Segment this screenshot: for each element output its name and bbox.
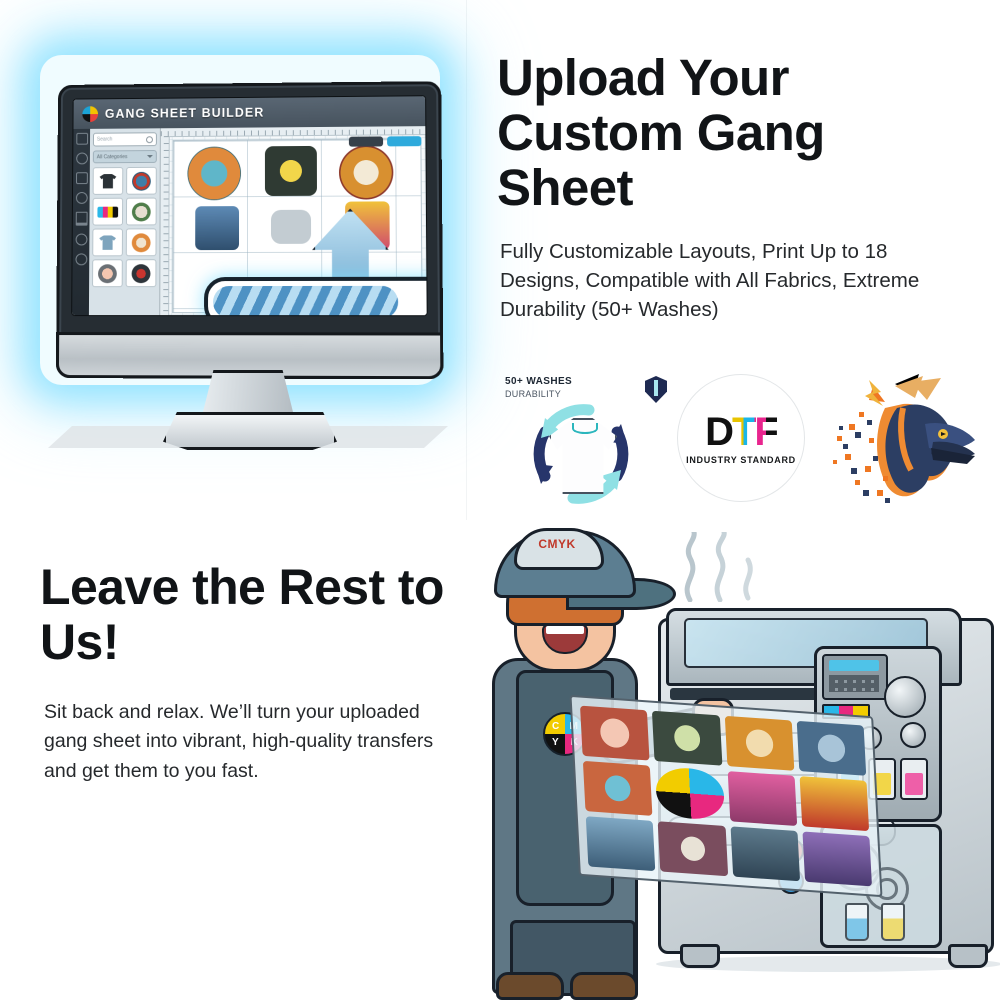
sheet-design: [658, 821, 728, 876]
steam-svg: [672, 532, 762, 602]
text-icon[interactable]: [75, 192, 87, 204]
keypad-icon[interactable]: [829, 675, 879, 692]
dtf-logo-d: D: [705, 410, 732, 454]
cap-text: CMYK: [530, 537, 584, 551]
durability-badge: 50+ WASHES DURABILITY: [497, 376, 667, 506]
frame-icon[interactable]: [75, 212, 87, 226]
search-magnifier-icon: [146, 136, 153, 143]
dtf-logo: DTF: [705, 412, 777, 452]
cmyk-strip-icon: [97, 206, 118, 217]
thumbnail-item[interactable]: [126, 198, 157, 226]
sheet-design: [799, 776, 869, 831]
sheet-design: [802, 831, 872, 886]
monitor-stand-base: [163, 412, 337, 450]
poster-root: GANG SHEET BUILDER: [0, 0, 1000, 1000]
thumbnail-item[interactable]: [126, 228, 157, 256]
printer-foot: [948, 944, 988, 968]
category-dropdown[interactable]: All Categories: [93, 150, 157, 163]
tshirt-refresh-icon: [521, 402, 641, 506]
printer-main-dial[interactable]: [884, 676, 926, 718]
dtf-caption: INDUSTRY STANDARD: [686, 455, 796, 465]
bottom-subtext: Sit back and relax. We’ll turn your uplo…: [44, 698, 444, 786]
sheet-design: [586, 816, 656, 871]
fluid-bottle-icon: [881, 903, 905, 941]
sheet-design: [583, 761, 653, 816]
tshirt-icon: [100, 174, 117, 189]
sheet-design: [730, 826, 800, 881]
washes-subtitle: DURABILITY: [505, 389, 561, 399]
app-side-panel: Search All Categories: [89, 128, 161, 315]
sheet-design: [652, 711, 722, 766]
thumbnail-item[interactable]: [92, 198, 123, 226]
monitor-body: GANG SHEET BUILDER: [56, 81, 444, 379]
badge-icon: [132, 233, 151, 252]
top-heading: Upload Your Custom Gang Sheet: [497, 50, 937, 215]
apron-letter-c: C: [552, 721, 559, 732]
app-tool-rail[interactable]: [72, 129, 90, 315]
apron-letter-y: Y: [552, 737, 559, 748]
cmyk-logo-icon: [82, 106, 98, 122]
top-subtext: Fully Customizable Layouts, Print Up to …: [500, 237, 937, 324]
sheet-design: [580, 706, 650, 761]
badge-icon: [132, 264, 151, 283]
bottom-text-block: Leave the Rest to Us! Sit back and relax…: [40, 560, 500, 786]
display-screen: [829, 660, 879, 671]
app-action-buttons: [349, 136, 422, 147]
design-thumbnail-grid: [92, 167, 157, 287]
app-canvas[interactable]: [160, 126, 426, 315]
app-body: Search All Categories: [72, 126, 427, 315]
sheet-design: [796, 721, 866, 776]
top-text-block: Upload Your Custom Gang Sheet Fully Cust…: [497, 50, 937, 325]
worker-shoe: [570, 972, 638, 1000]
monitor-screen: GANG SHEET BUILDER: [71, 95, 428, 316]
thumbnail-item[interactable]: [92, 259, 123, 287]
upload-progress-bar: [204, 277, 427, 316]
ruler-vertical: [160, 136, 170, 315]
search-placeholder: Search: [97, 137, 113, 143]
worker-shoe: [496, 972, 564, 1000]
shield-icon: [645, 376, 667, 403]
badge-icon: [132, 171, 151, 190]
menu-icon[interactable]: [76, 133, 88, 145]
app-topbar: GANG SHEET BUILDER: [73, 96, 425, 129]
thumbnail-item[interactable]: [126, 259, 157, 287]
tshirt-icon: [99, 235, 116, 250]
dtf-industry-standard-badge: DTF INDUSTRY STANDARD: [677, 374, 805, 502]
canvas-design[interactable]: [339, 145, 394, 199]
image-icon[interactable]: [76, 172, 88, 184]
badge-icon: [98, 264, 117, 283]
thumbnail-item[interactable]: [93, 167, 124, 195]
search-input[interactable]: Search: [93, 132, 157, 146]
dragon-svg: [825, 368, 985, 508]
printer-gauge: [900, 722, 926, 748]
thumbnail-item[interactable]: [126, 167, 157, 195]
bottom-section: Leave the Rest to Us! Sit back and relax…: [0, 520, 1000, 1000]
printer-display: [822, 654, 888, 700]
fluid-bottle-icon: [845, 903, 869, 941]
start-project-button[interactable]: [387, 136, 421, 146]
category-dropdown-value: All Categories: [97, 154, 128, 160]
upload-progress-fill: [213, 286, 398, 315]
canvas-design[interactable]: [187, 146, 241, 200]
printer-foot: [680, 944, 720, 968]
app-title: GANG SHEET BUILDER: [105, 106, 265, 121]
thumbnail-item[interactable]: [92, 228, 123, 256]
preview-upload-button[interactable]: [349, 136, 383, 146]
printed-gang-sheet: [569, 695, 882, 897]
cartridge-fill: [905, 773, 923, 795]
sheet-design-cmyk-tshirt: [655, 766, 725, 821]
steam-icon: [672, 532, 762, 602]
sheet-design: [724, 716, 794, 771]
dragon-head-icon: [825, 368, 985, 508]
worker-printer-illustration: C M Y K CMYK: [470, 520, 1000, 1000]
washes-title: 50+ WASHES: [505, 376, 572, 387]
badge-icon: [132, 202, 151, 221]
gang-sheet-designs: [580, 706, 872, 887]
canvas-design[interactable]: [271, 210, 311, 244]
chevron-down-icon: [147, 155, 153, 158]
upload-icon[interactable]: [75, 234, 87, 246]
bottom-heading: Leave the Rest to Us!: [40, 560, 500, 670]
canvas-design[interactable]: [265, 146, 317, 196]
badge-row: 50+ WASHES DURABILITY: [497, 368, 997, 513]
top-section: GANG SHEET BUILDER: [0, 0, 1000, 520]
sheet-design: [727, 771, 797, 826]
ink-cartridge-magenta[interactable]: [900, 758, 928, 800]
canvas-design[interactable]: [195, 206, 239, 250]
monitor-illustration: GANG SHEET BUILDER: [30, 40, 450, 460]
dtf-logo-tf: TF: [732, 410, 777, 454]
search-icon[interactable]: [76, 153, 88, 165]
settings-icon[interactable]: [75, 253, 87, 265]
